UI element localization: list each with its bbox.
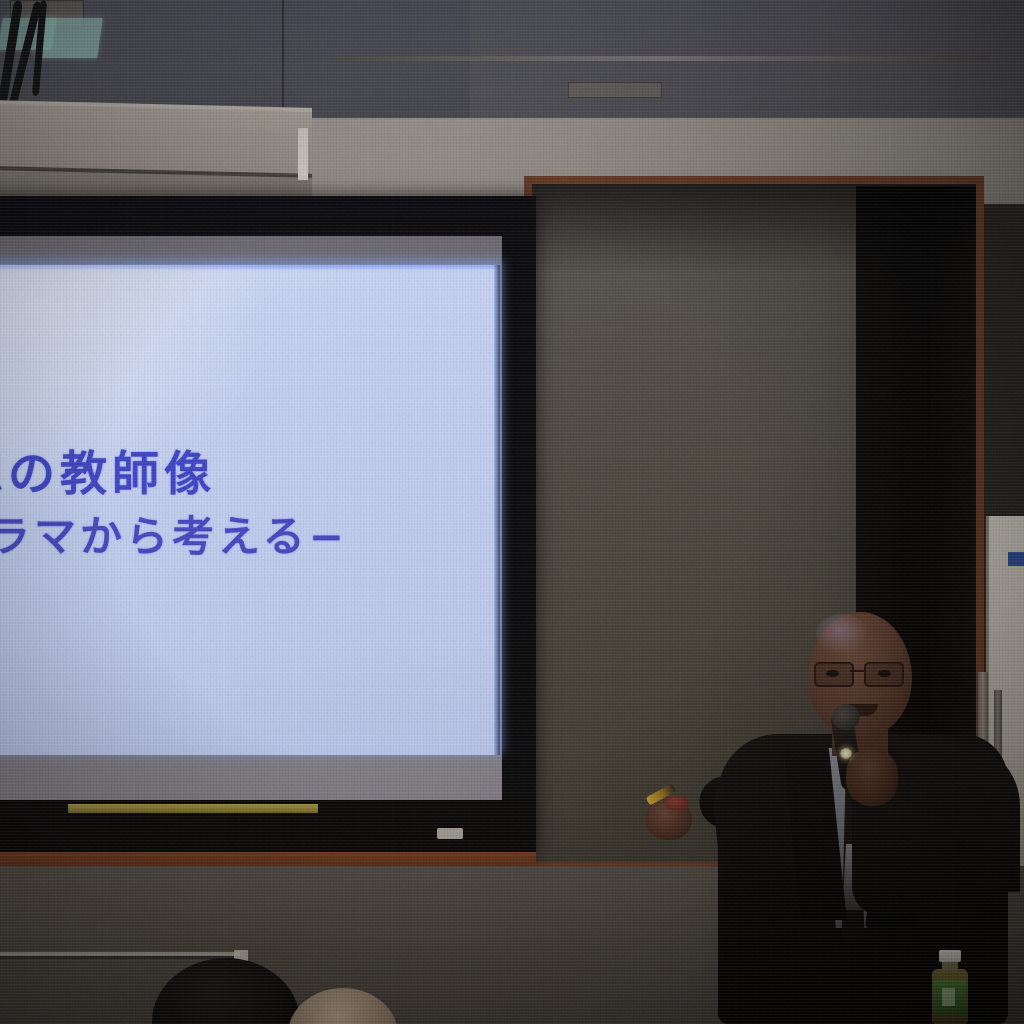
presenter-eye-left <box>826 670 839 677</box>
presenter-right-hand <box>846 748 898 806</box>
screen-roller-strip <box>68 804 318 813</box>
soffit-end-cap <box>298 128 308 180</box>
slide-subtitle: レビドラマから考える− <box>0 503 470 564</box>
presenter-eye-right <box>878 670 891 677</box>
ceiling-vent <box>568 82 662 98</box>
alcove-top-shadow <box>532 184 976 274</box>
wall-rail-shadow <box>0 956 234 959</box>
ceiling-rail <box>330 56 990 61</box>
ceiling-seam <box>282 0 284 108</box>
presenter-scalp-highlight <box>816 614 868 654</box>
projected-slide: 理想の教師像 レビドラマから考える− <box>0 265 500 755</box>
green-tea-bottle <box>930 950 970 1024</box>
projection-right-edge <box>494 265 500 755</box>
bottle-neck <box>942 961 958 971</box>
pointer-body <box>666 796 688 810</box>
glasses-bridge <box>850 670 866 672</box>
bottle-cap <box>939 950 961 962</box>
screen-pull-knob <box>437 828 463 839</box>
photo-scene: 理想の教師像 レビドラマから考える− <box>0 0 1024 1024</box>
microphone-indicator-light <box>840 748 852 759</box>
ceiling-light-panel <box>35 18 103 58</box>
panel-blue-tab <box>1008 552 1024 566</box>
slide-title: 理想の教師像 <box>0 435 464 504</box>
soffit-beam <box>0 104 312 178</box>
bottle-label-mark <box>942 988 955 1006</box>
